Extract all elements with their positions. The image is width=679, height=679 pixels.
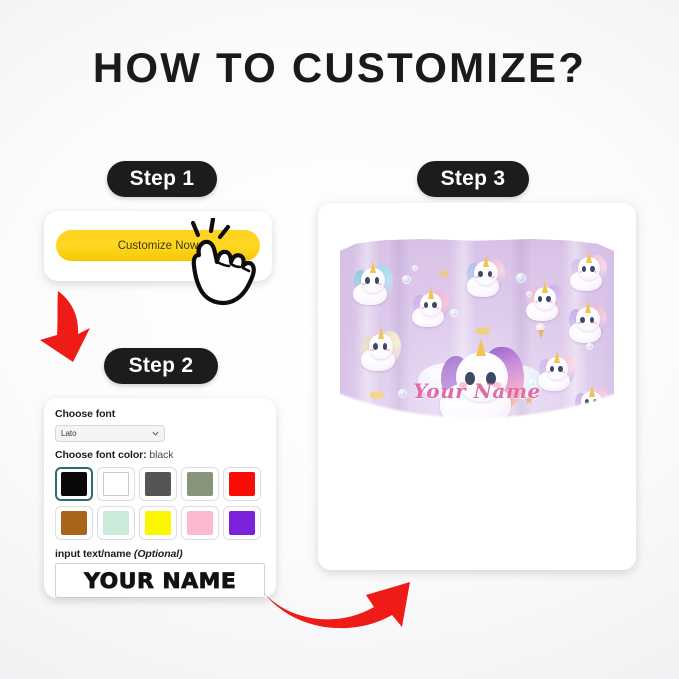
choose-font-color-value: black <box>149 449 173 461</box>
step-1-card: Customize Now <box>44 211 272 281</box>
color-chip-sage-green <box>187 472 213 496</box>
input-text-name-label: input text/name (Optional) <box>55 548 265 560</box>
page-title: HOW TO CUSTOMIZE? <box>0 44 679 92</box>
unicorn-motif <box>524 281 564 325</box>
choose-font-label: Choose font <box>55 408 265 420</box>
color-chip-pink <box>187 511 213 535</box>
chevron-down-icon <box>152 430 159 437</box>
personalized-blanket-preview: Your Name <box>340 239 614 537</box>
icecream-decoration <box>518 425 527 441</box>
bubble-decoration <box>526 291 532 297</box>
step-3-badge: Step 3 <box>417 161 529 197</box>
step-2-badge: Step 2 <box>104 348 218 384</box>
step-1-badge: Step 1 <box>107 161 217 197</box>
bubble-decoration <box>586 343 593 350</box>
unicorn-motif <box>410 287 450 331</box>
unicorn-motif <box>578 449 614 489</box>
color-swatch-pink[interactable] <box>181 506 219 540</box>
unicorn-motif <box>348 419 390 465</box>
bubble-decoration <box>402 275 411 284</box>
bubble-decoration <box>450 309 458 317</box>
color-swatch-white[interactable] <box>97 467 135 501</box>
unicorn-motif <box>350 261 394 309</box>
step-3-card: Your Name <box>318 203 636 570</box>
color-swatch-black[interactable] <box>55 467 93 501</box>
color-chip-yellow <box>145 511 171 535</box>
font-select-value: Lato <box>61 429 77 438</box>
input-text-name-optional: (Optional) <box>134 548 183 560</box>
starfish-decoration <box>438 267 451 280</box>
font-color-swatch-grid <box>55 467 265 540</box>
color-swatch-purple[interactable] <box>223 506 261 540</box>
choose-font-color-label-text: Choose font color: <box>55 449 147 461</box>
name-text-input[interactable]: YOUR NAME <box>55 563 265 598</box>
bubble-decoration <box>412 265 418 271</box>
font-select-dropdown[interactable]: Lato <box>55 425 165 442</box>
unicorn-motif <box>358 327 402 375</box>
blanket-name-text: Your Name <box>340 379 614 403</box>
color-chip-brown <box>61 511 87 535</box>
color-swatch-dark-gray[interactable] <box>139 467 177 501</box>
unicorn-motif <box>464 255 506 301</box>
color-chip-white <box>103 472 129 496</box>
color-swatch-brown[interactable] <box>55 506 93 540</box>
unicorn-motif <box>532 421 576 469</box>
customize-now-button[interactable]: Customize Now <box>56 230 260 261</box>
color-swatch-red[interactable] <box>223 467 261 501</box>
color-chip-black <box>61 472 87 496</box>
unicorn-motif <box>566 301 608 347</box>
heart-cloud-decoration <box>410 455 428 465</box>
choose-font-color-label: Choose font color: black <box>55 449 265 461</box>
color-swatch-sage-green[interactable] <box>181 467 219 501</box>
bubble-decoration <box>516 273 526 283</box>
unicorn-motif <box>568 251 608 295</box>
color-chip-red <box>229 472 255 496</box>
color-swatch-yellow[interactable] <box>139 506 177 540</box>
color-swatch-mint[interactable] <box>97 506 135 540</box>
bubble-decoration <box>464 471 472 479</box>
color-chip-mint <box>103 511 129 535</box>
heart-cloud-decoration <box>476 327 490 335</box>
bubble-decoration <box>402 433 412 443</box>
name-text-input-value: YOUR NAME <box>84 569 236 593</box>
color-chip-dark-gray <box>145 472 171 496</box>
bubble-decoration <box>414 421 420 427</box>
icecream-decoration <box>536 323 545 339</box>
step-2-card: Choose font Lato Choose font color: blac… <box>44 398 276 598</box>
input-text-name-label-text: input text/name <box>55 548 131 560</box>
color-chip-purple <box>229 511 255 535</box>
